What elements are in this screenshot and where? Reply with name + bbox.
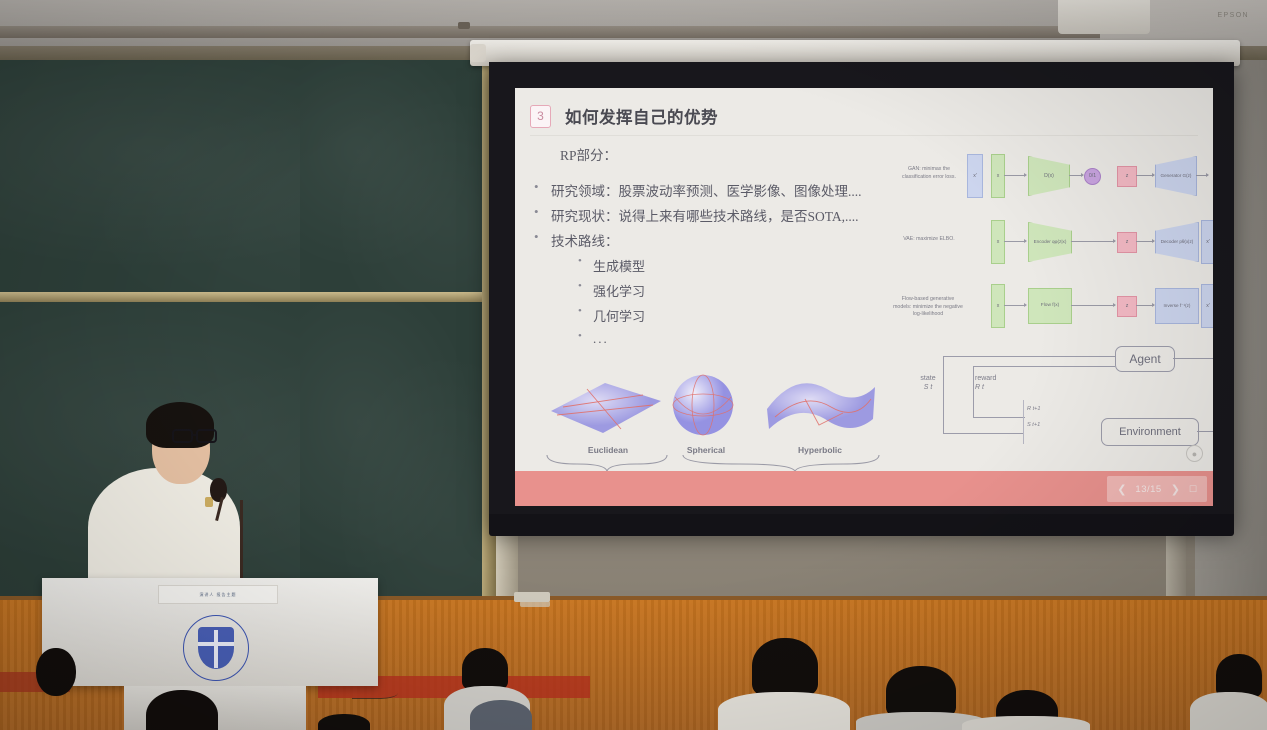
- rl-line-action-bottom: [1197, 431, 1213, 432]
- bullet-research-area: 研究领域：股票波动率预测、医学影像、图像处理....: [551, 180, 862, 200]
- gan-arrow-4: [1196, 175, 1208, 176]
- rl-line-action-top: [1173, 358, 1213, 359]
- flow-node-x: x: [991, 284, 1005, 328]
- mic-head: [210, 478, 227, 502]
- slide-title-row: 3 如何发挥自己的优势: [530, 104, 718, 128]
- flow-caption: Flow-based generative models: minimize t…: [893, 296, 963, 319]
- projection-screen-weight-bar: [489, 514, 1234, 536]
- audience-head-1: [146, 690, 218, 730]
- chevron-left-icon[interactable]: ❮: [1117, 483, 1126, 496]
- slide-navigation-controls[interactable]: ❮ 13/15 ❯ ☐: [1107, 476, 1207, 502]
- vae-node-z: z: [1117, 232, 1137, 253]
- vae-arrow-2: [1071, 241, 1115, 242]
- audience-head-5: [886, 666, 956, 718]
- rl-reward-label: reward R t: [975, 374, 1015, 392]
- rl-state-label: state S t: [911, 374, 945, 392]
- rl-reward-symbol: R t: [975, 384, 984, 391]
- audience-head-8: [318, 714, 370, 730]
- vae-arrow-3: [1136, 241, 1154, 242]
- flow-arrow-1: [1004, 305, 1026, 306]
- university-emblem: [183, 615, 249, 681]
- gan-node-generator: Generator G(z): [1155, 156, 1197, 196]
- presentation-slide: 3 如何发挥自己的优势 RP部分： 研究领域：股票波动率预测、医学影像、图像处理…: [515, 88, 1213, 506]
- vae-node-xprime: x': [1201, 220, 1213, 264]
- rl-line-state-bottom: [943, 433, 1023, 434]
- podium-nameplate: 演讲人 报告主题: [158, 585, 278, 604]
- epson-brand-label: EPSON: [1217, 12, 1249, 19]
- audience-shoulders-6: [962, 716, 1090, 730]
- geometry-figures: Euclidean Spherical Hyperbolic: [543, 333, 883, 468]
- lecture-hall-photo: EPSON 3 如何发挥自己的优势 RP部分： 研究领域：股票波动率预测、医学影…: [0, 0, 1267, 730]
- sub-bullet-rl: 强化学习: [593, 281, 645, 300]
- rl-next-state-symbol: S t+1: [1027, 422, 1040, 429]
- gan-caption: GAN: minimax the classification error lo…: [898, 166, 960, 181]
- chevron-right-icon[interactable]: ❯: [1171, 483, 1180, 496]
- slide-title: 如何发挥自己的优势: [565, 104, 718, 128]
- audience-head-4: [752, 638, 818, 696]
- rp-section-label: RP部分：: [560, 144, 617, 164]
- gan-node-classifier: 0/1: [1084, 168, 1101, 185]
- rl-line-reward-top: [973, 366, 1115, 367]
- emblem-cross-horizontal: [198, 642, 234, 646]
- floor-cable: [352, 684, 398, 699]
- user-avatar-icon[interactable]: ●: [1186, 445, 1203, 462]
- gan-node-discriminator: D(x): [1028, 156, 1070, 196]
- rl-next-reward-symbol: R t+1: [1027, 406, 1041, 413]
- flow-node-flow: Flow f(x): [1028, 288, 1072, 324]
- blackboard-panel-upper-2: [300, 58, 496, 292]
- title-divider: [530, 135, 1198, 136]
- mic-stand: [240, 500, 243, 582]
- audience-cap-3: [470, 700, 532, 730]
- audience-head-2: [36, 648, 76, 696]
- sub-bullet-generative: 生成模型: [593, 256, 645, 275]
- gan-node-x: x: [991, 154, 1005, 198]
- gan-node-z: z: [1117, 166, 1137, 187]
- gan-arrow-3: [1136, 175, 1154, 176]
- emblem-cross-vertical: [214, 630, 218, 668]
- blackboard-panel-lower-2: [300, 302, 496, 602]
- ceiling-beam: [0, 26, 1130, 38]
- vae-node-encoder: Encoder qφ(z|x): [1028, 222, 1072, 262]
- projector-housing: [1058, 0, 1150, 34]
- flow-node-inverse: Inverse f⁻¹(z): [1155, 288, 1199, 324]
- vae-node-decoder: Decoder pθ(x|z): [1155, 222, 1199, 262]
- vae-caption: VAE: maximize ELBO.: [898, 236, 960, 244]
- rl-state-symbol: S t: [924, 384, 933, 391]
- rl-reward-text: reward: [975, 375, 996, 382]
- flow-arrow-3: [1136, 305, 1154, 306]
- audience-shoulders-7: [1190, 692, 1267, 730]
- fullscreen-icon[interactable]: ☐: [1189, 484, 1197, 495]
- eraser: [520, 601, 550, 607]
- page-indicator: 13/15: [1135, 484, 1161, 495]
- gan-arrow-1: [1004, 175, 1026, 176]
- flow-node-z: z: [1117, 296, 1137, 317]
- rl-state-text: state: [920, 375, 935, 382]
- audience-shoulders-4: [718, 692, 850, 730]
- presenter-glasses: [172, 428, 224, 444]
- rl-line-state-left: [943, 356, 944, 434]
- bullet-research-status: 研究现状：说得上来有哪些技术路线，是否SOTA,....: [551, 205, 859, 225]
- bullet-tech-route: 技术路线：: [551, 230, 619, 250]
- rl-divider-dash: [1023, 400, 1024, 444]
- blackboard-divider-2: [300, 292, 496, 302]
- vae-node-x: x: [991, 220, 1005, 264]
- ceiling-sensor: [458, 22, 470, 29]
- rl-environment-box: Environment: [1101, 418, 1199, 446]
- section-number-badge: 3: [530, 105, 551, 128]
- slide-footer-bar: ❮ 13/15 ❯ ☐: [515, 471, 1213, 506]
- flow-arrow-2: [1071, 305, 1115, 306]
- blackboard-right: [300, 58, 500, 618]
- rl-line-reward-bottom: [973, 417, 1025, 418]
- rl-line-state-top: [943, 356, 1115, 357]
- flow-node-xprime: x': [1201, 284, 1213, 328]
- podium-nameplate-text: 演讲人 报告主题: [159, 586, 277, 603]
- rl-agent-box: Agent: [1115, 346, 1175, 372]
- screen-roller-cap: [470, 44, 486, 62]
- gan-node-xprime-in: x': [967, 154, 983, 198]
- sub-bullet-geometric: 几何学习: [593, 306, 645, 325]
- gan-arrow-2: [1069, 175, 1083, 176]
- audience-head-3: [462, 648, 508, 690]
- vae-arrow-1: [1004, 241, 1026, 242]
